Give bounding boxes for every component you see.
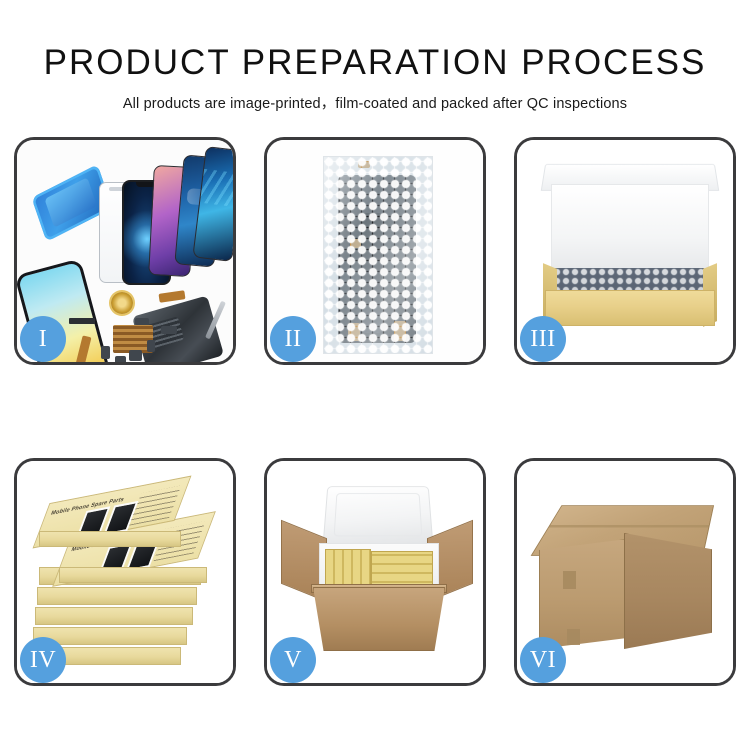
carton-tape-shape: [567, 629, 580, 645]
page-header: PRODUCT PREPARATION PROCESS All products…: [0, 0, 750, 113]
carton-left-face-shape: [539, 539, 627, 649]
carton-front-panel-shape: [313, 587, 445, 651]
step-badge-5: V: [270, 637, 316, 683]
plastic-sheen-shape: [324, 157, 432, 353]
process-step-panel-1[interactable]: I: [14, 137, 236, 365]
flex-cable-shape: [159, 290, 186, 303]
foam-lid-shape: [322, 486, 433, 546]
stacked-box-shape: [59, 567, 207, 583]
small-part-shape: [101, 346, 110, 359]
step-badge-2: II: [270, 316, 316, 362]
box-front-panel-shape: [545, 290, 715, 326]
stacked-box-shape: [39, 531, 181, 547]
stacked-box-shape: [35, 607, 193, 625]
step-badge-1: I: [20, 316, 66, 362]
process-step-panel-6[interactable]: VI: [514, 458, 736, 686]
foam-sheet-shape: [551, 184, 709, 274]
small-part-shape: [129, 350, 142, 361]
component-bar-shape: [69, 318, 95, 324]
carton-tape-shape: [563, 571, 576, 589]
page-subtitle: All products are image-printed，film-coat…: [0, 83, 750, 113]
process-step-panel-5[interactable]: V: [264, 458, 486, 686]
stacked-box-shape: [37, 587, 197, 605]
step-badge-6: VI: [520, 637, 566, 683]
small-part-shape: [115, 356, 126, 362]
small-part-shape: [147, 340, 155, 352]
speaker-coil-shape: [111, 292, 133, 314]
carton-right-face-shape: [624, 533, 712, 649]
small-part-shape: [161, 326, 177, 334]
step-badge-3: III: [520, 316, 566, 362]
bubble-bag-shape: [323, 156, 433, 354]
process-step-panel-4[interactable]: Mobile Phone Spare Parts Mobile Phone Sp…: [14, 458, 236, 686]
process-step-grid: I II: [14, 137, 736, 686]
process-step-panel-2[interactable]: II: [264, 137, 486, 365]
page-title: PRODUCT PREPARATION PROCESS: [0, 0, 750, 83]
step-badge-4: IV: [20, 637, 66, 683]
box-spec-lines-shape: [129, 486, 181, 526]
small-part-shape: [135, 318, 149, 325]
process-step-panel-3[interactable]: III: [514, 137, 736, 365]
